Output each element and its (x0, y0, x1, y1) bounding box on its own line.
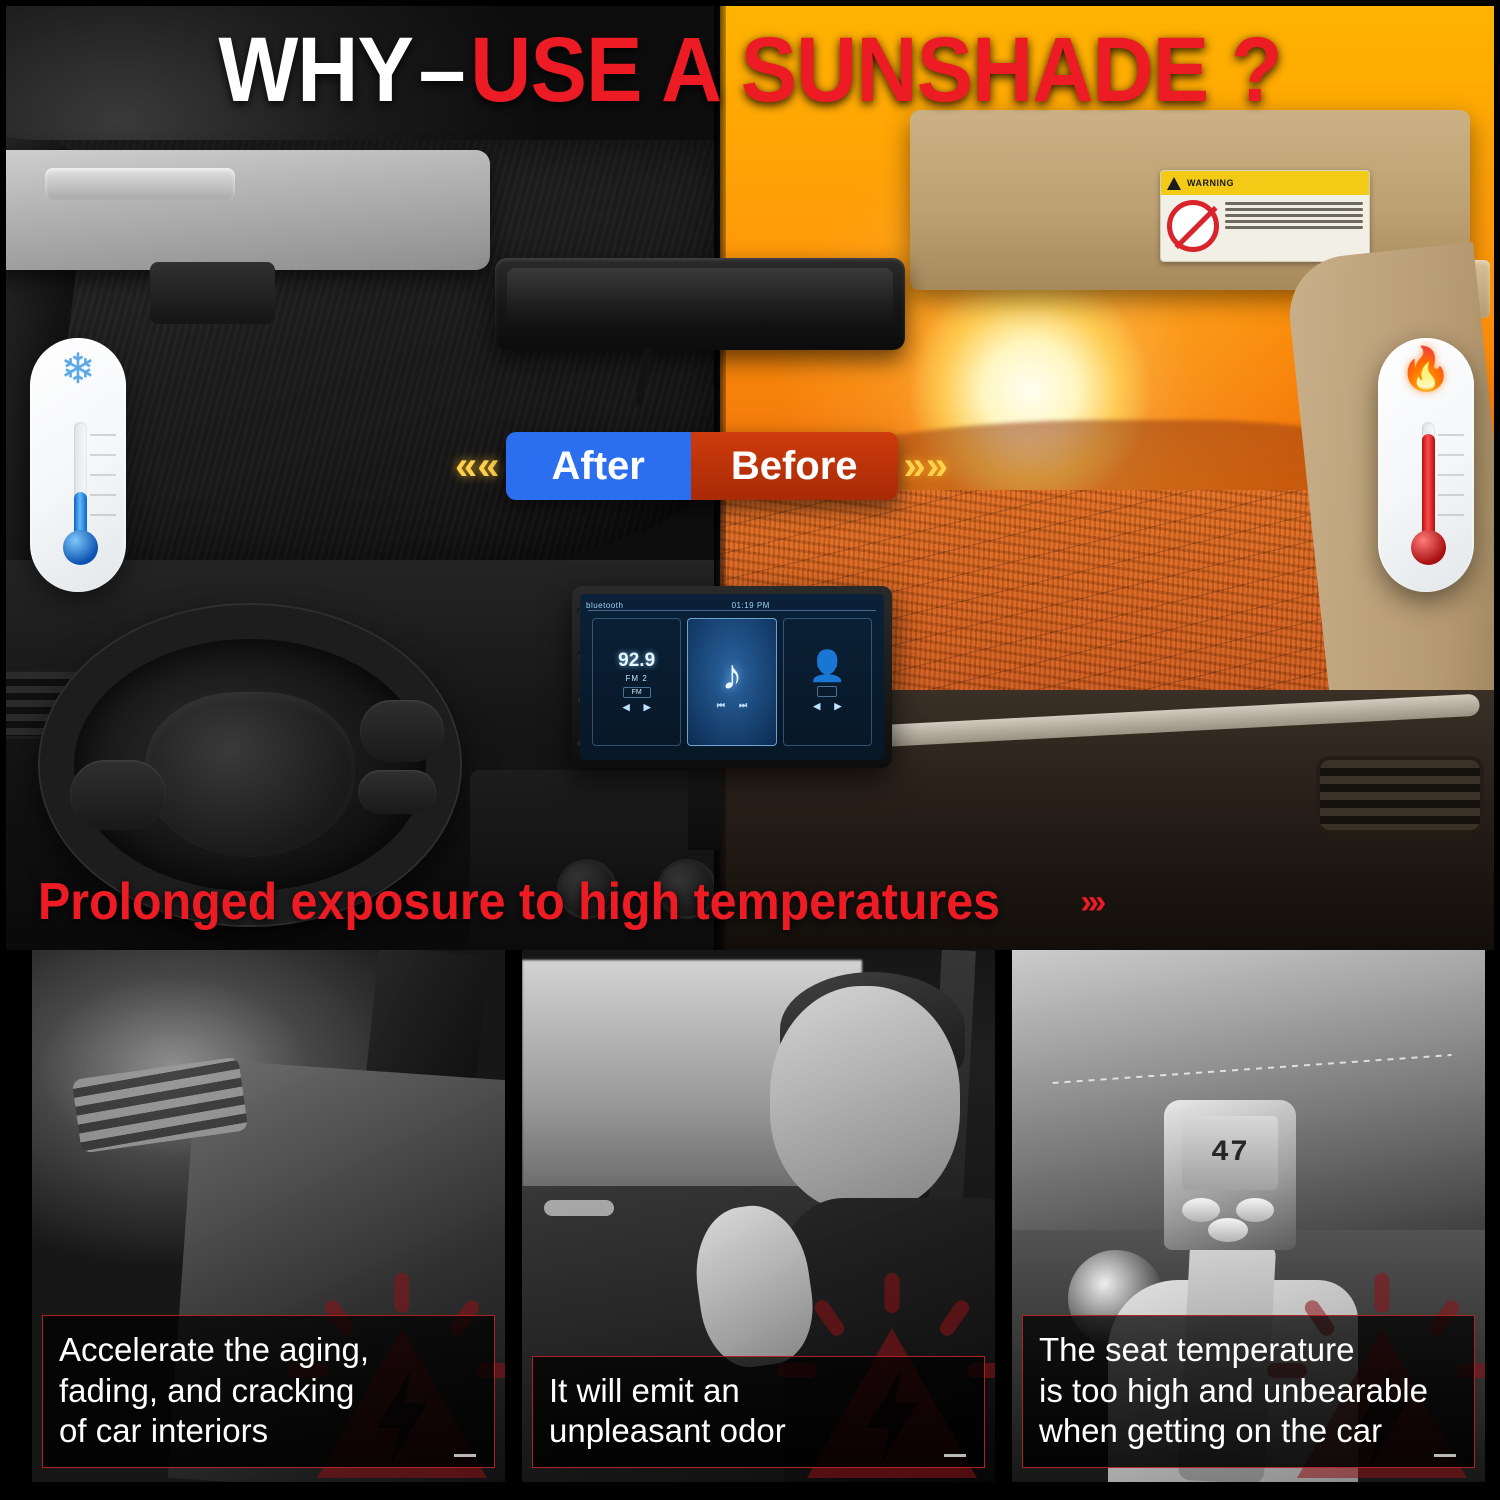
media-prev-icon[interactable]: ⏮ (717, 700, 725, 711)
panel2-person-head (770, 986, 960, 1211)
thermometer-mercury-hot (1422, 434, 1435, 540)
snowflake-icon: ❄ (60, 348, 95, 390)
phone-next-icon[interactable]: ▶ (834, 701, 841, 712)
odor-panel: It will emit an unpleasant odor (522, 950, 995, 1482)
panel3-caption-line-3: when getting on the car (1039, 1411, 1458, 1451)
media-transport[interactable]: ⏮ ⏭ (717, 700, 747, 711)
contact-person-icon: 👤 (809, 652, 846, 682)
visor-warning-label: WARNING (1160, 170, 1370, 262)
title-dash: – (413, 19, 470, 121)
radio-tile[interactable]: 92.9 FM 2 FM ◀ ▶ (592, 618, 681, 746)
comparison-pill[interactable]: After Before (506, 432, 898, 500)
panel3-thermometer-buttons[interactable] (1182, 1198, 1278, 1240)
thermometer-ticks-hot (1438, 434, 1464, 534)
steering-control-right-lower (358, 770, 436, 814)
screen-divider (588, 610, 876, 611)
thermometer-bulb-hot (1411, 530, 1446, 565)
radio-prev-icon[interactable]: ◀ (623, 702, 630, 713)
cold-thermometer: ❄ (30, 338, 126, 592)
thermometer-button-right[interactable] (1236, 1198, 1274, 1222)
panel2-caption-line-2: unpleasant odor (549, 1411, 968, 1451)
panel3-caption-line-1: The seat temperature (1039, 1330, 1458, 1370)
rearview-mirror (495, 258, 905, 350)
panel1-caption-dash (454, 1454, 476, 1457)
media-tile[interactable]: ♪ ⏮ ⏭ (687, 618, 776, 746)
title-word-why: WHY (218, 19, 413, 121)
phone-chip[interactable] (817, 686, 837, 697)
panel2-door-handle (544, 1200, 614, 1216)
infotainment-head-unit: bluetooth 01:19 PM 92.9 FM 2 FM ◀ ▶ (572, 586, 892, 768)
warning-label-textblock (1225, 200, 1363, 252)
panel1-caption-line-3: of car interiors (59, 1411, 478, 1451)
thermometer-ticks-cold (90, 434, 116, 534)
steering-control-right-upper (360, 700, 444, 762)
thermometer-bulb-cold (63, 530, 98, 565)
media-next-icon[interactable]: ⏭ (739, 700, 747, 711)
thermometer-button-left[interactable] (1182, 1198, 1220, 1222)
radio-preset-chip[interactable]: FM (623, 687, 651, 698)
warning-label-header: WARNING (1161, 171, 1369, 195)
warning-triangle-icon (1167, 177, 1181, 190)
subheadline-arrows-icon: ››› (1080, 883, 1102, 922)
thermometer-button-center[interactable] (1208, 1218, 1248, 1242)
panel1-caption-line-1: Accelerate the aging, (59, 1330, 478, 1370)
right-chevrons-icon: »» (904, 446, 949, 486)
flame-icon: 🔥 (1400, 348, 1452, 390)
phone-prev-icon[interactable]: ◀ (813, 701, 820, 712)
sun-visor-left (0, 150, 490, 270)
subheadline-text: Prolonged exposure to high temperatures (38, 876, 1000, 928)
warning-label-text: WARNING (1187, 178, 1234, 188)
screen-clock: 01:19 PM (732, 601, 770, 610)
mirror-glass (507, 268, 893, 328)
before-badge[interactable]: Before (691, 432, 898, 500)
panel2-caption-dash (944, 1454, 966, 1457)
subheadline: Prolonged exposure to high temperatures … (38, 876, 1102, 928)
steering-control-left (70, 760, 166, 830)
bluetooth-status-icon: bluetooth (586, 601, 623, 610)
panel3-temperature-reading: 47 (1211, 1136, 1249, 1170)
panel1-caption-line-2: fading, and cracking (59, 1371, 478, 1411)
no-rear-facing-child-seat-icon (1167, 200, 1219, 252)
panel3-infrared-thermometer: 47 (1164, 1100, 1296, 1250)
screen-tiles: 92.9 FM 2 FM ◀ ▶ ♪ ⏮ ⏭ (592, 618, 872, 746)
panel3-thermometer-display: 47 (1182, 1116, 1278, 1190)
radio-frequency: 92.9 (618, 651, 655, 670)
page-title: WHY–USE A SUNSHADE ? (60, 24, 1440, 116)
panel3-caption-line-2: is too high and unbearable (1039, 1371, 1458, 1411)
hot-thermometer: 🔥 (1378, 338, 1474, 592)
hero-split-scene: WARNING (0, 0, 1500, 950)
infographic-stage: WARNING (0, 0, 1500, 1500)
radio-next-icon[interactable]: ▶ (644, 702, 651, 713)
radio-band: FM 2 (626, 674, 648, 683)
radio-nav[interactable]: ◀ ▶ (623, 702, 651, 713)
infotainment-screen[interactable]: bluetooth 01:19 PM 92.9 FM 2 FM ◀ ▶ (580, 594, 884, 760)
phone-tile[interactable]: 👤 ◀ ▶ (783, 618, 872, 746)
panel1-caption: Accelerate the aging, fading, and cracki… (42, 1315, 495, 1468)
screen-mount-stand (688, 766, 722, 850)
steering-wheel-hub (145, 692, 355, 857)
music-note-icon: ♪ (721, 654, 742, 696)
left-chevrons-icon: «« (455, 446, 500, 486)
after-badge[interactable]: After (506, 432, 691, 500)
panel2-caption: It will emit an unpleasant odor (532, 1356, 985, 1469)
air-vent-right-icon (1320, 760, 1480, 830)
phone-nav[interactable]: ◀ ▶ (813, 701, 841, 712)
panel3-caption: The seat temperature is too high and unb… (1022, 1315, 1475, 1468)
before-after-toggle[interactable]: «« After Before »» (455, 432, 948, 500)
warning-label-body (1161, 195, 1369, 257)
panel3-caption-dash (1434, 1454, 1456, 1457)
benefit-panels: Accelerate the aging, fading, and cracki… (0, 950, 1500, 1500)
interior-aging-panel: Accelerate the aging, fading, and cracki… (32, 950, 505, 1482)
mirror-headrest-reflection (150, 262, 275, 324)
title-word-sunshade: USE A SUNSHADE ? (470, 19, 1281, 121)
seat-temperature-panel: 47 (1012, 950, 1485, 1482)
panel2-caption-line-1: It will emit an (549, 1371, 968, 1411)
